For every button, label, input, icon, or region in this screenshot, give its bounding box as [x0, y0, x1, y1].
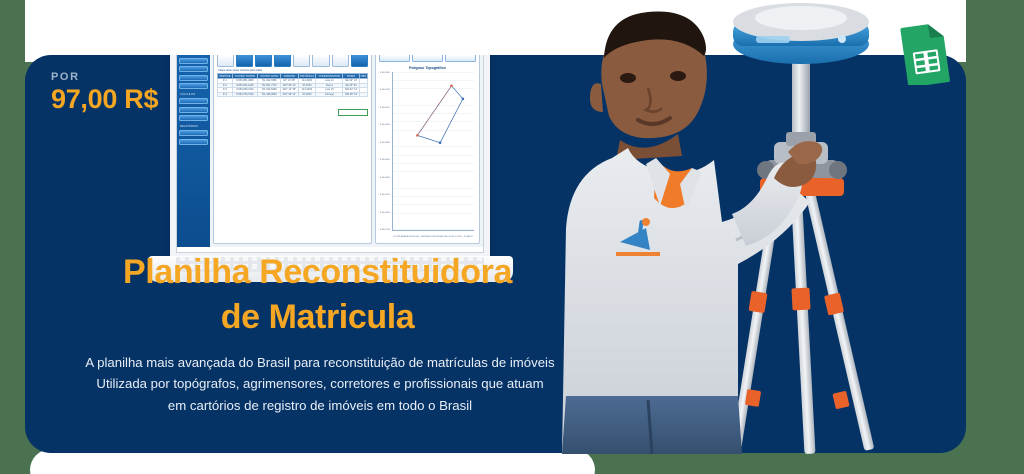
chart-title: Polígono Topográfico [379, 66, 476, 70]
sidebar-group-label-3: RELATÓRIOS [179, 124, 208, 128]
table-panel: Clique duas vezes na linha para editar V… [213, 55, 372, 244]
table-hint: Clique duas vezes na linha para editar [218, 69, 368, 72]
sidebar-item-distancia[interactable] [179, 107, 208, 113]
page-title: Planilha Reconstituidora de Matricula [25, 250, 610, 340]
app-main: Clique duas vezes na linha para editar V… [210, 55, 483, 247]
title-line-2: de Matricula [25, 295, 610, 340]
toolbar-field-area[interactable] [293, 55, 310, 67]
chart-button-imprimir[interactable] [445, 55, 476, 62]
banner-frame: POR 97,00 R$ SISTCO - SISTEMA DE CÁLCULO… [0, 0, 1024, 474]
chart-y-axis: 8.654.960 8.654.940 8.654.920 8.654.900 … [379, 72, 391, 231]
sidebar-item-exportar[interactable] [179, 130, 208, 136]
laptop-screen: SISTCO - SISTEMA DE CÁLCULO DE CONVERSÃO… [176, 55, 484, 253]
price-label: POR [51, 71, 158, 83]
chart-toolbar [379, 55, 476, 62]
toolbar-button-limpar[interactable] [255, 55, 272, 67]
chart-button-exportar-excel[interactable] [412, 55, 443, 62]
sidebar-item-inicio[interactable] [179, 58, 208, 64]
y-tick: 8.654.900 [380, 124, 390, 126]
y-tick: 8.654.880 [380, 142, 390, 144]
google-sheets-icon [897, 23, 953, 85]
toolbar-field-azimute[interactable] [332, 55, 349, 67]
subtitle-line-1: A planilha mais avançada do Brasil para … [35, 352, 605, 373]
surveyor-photo [560, 0, 930, 454]
cell: 97,3200 [298, 92, 316, 97]
toolbar-button-novo-registro[interactable] [351, 55, 368, 67]
cell: 8.654.793,3740 [232, 92, 258, 97]
sidebar-item-coordenadas[interactable] [179, 75, 208, 81]
chart-panel: Polígono Topográfico 8.654.960 8.654.940… [375, 55, 480, 244]
y-tick: 8.654.780 [380, 229, 390, 231]
cell: 711.445,0960 [258, 92, 281, 97]
table-body: P-1 8.654.881,4820 711.402,3380 62° 14' … [218, 79, 368, 97]
title-line-1: Planilha Reconstituidora [123, 253, 512, 291]
y-tick: 8.654.940 [380, 89, 390, 91]
sidebar-item-azimute[interactable] [179, 98, 208, 104]
cell [359, 92, 367, 97]
app-sidebar: MENU CÁLCULOS RELATÓRIOS [177, 55, 210, 247]
chart-x-axis: COORDENADAS ESTE (E) - SISTEMA UTM SIRGA… [392, 236, 474, 239]
selected-cell[interactable] [338, 109, 368, 116]
chart-button-gerar-poligono[interactable] [379, 55, 410, 62]
sidebar-item-configuracoes[interactable] [179, 139, 208, 145]
subtitle-line-2: Utilizada por topógrafos, agrimensores, … [35, 373, 605, 394]
app-body: MENU CÁLCULOS RELATÓRIOS [177, 55, 483, 247]
toolbar-field-perimetro[interactable] [312, 55, 329, 67]
y-tick: 8.654.800 [380, 212, 390, 214]
x-axis-label: COORDENADAS ESTE (E) - SISTEMA UTM SIRGA… [393, 236, 448, 238]
person-head [590, 12, 707, 160]
cell: Córrego [316, 92, 343, 97]
sidebar-group-label-2: CÁLCULOS [179, 92, 208, 96]
toolbar-field-vertice[interactable] [217, 55, 234, 67]
toolbar-button-memorial[interactable] [274, 55, 291, 67]
chart-plot [392, 72, 474, 231]
cell: 334° 08' 11" [281, 92, 299, 97]
table-row[interactable]: P-4 8.654.793,3740 711.445,0960 334° 08'… [218, 92, 368, 97]
sidebar-item-area[interactable] [179, 115, 208, 121]
gps-receiver [733, 3, 869, 64]
y-tick: 8.654.920 [380, 107, 390, 109]
y-tick: 8.654.820 [380, 194, 390, 196]
subtitle-line-3: em cartórios de registro de imóveis em t… [35, 395, 605, 416]
y-tick: 8.654.960 [380, 72, 390, 74]
page-subtitle: A planilha mais avançada do Brasil para … [35, 352, 605, 416]
y-tick: 8.654.860 [380, 159, 390, 161]
app-toolbar [217, 55, 368, 67]
polygon-series [393, 72, 474, 153]
sidebar-item-conversao[interactable] [179, 83, 208, 89]
laptop-lid: SISTCO - SISTEMA DE CÁLCULO DE CONVERSÃO… [170, 55, 490, 261]
cell: P-4 [218, 92, 233, 97]
y-tick: 8.654.840 [380, 177, 390, 179]
person-jeans [562, 396, 742, 454]
toolbar-button-calcular[interactable] [236, 55, 253, 67]
price-value: 97,00 R$ [51, 85, 158, 113]
x-axis-sublabel: FUSO 23 SUL - ZONA 23 [449, 236, 473, 238]
sidebar-item-memorial[interactable] [179, 66, 208, 72]
price-badge: POR 97,00 R$ [37, 69, 158, 113]
cell: NW 25° 51' [343, 92, 359, 97]
chart-area: 8.654.960 8.654.940 8.654.920 8.654.900 … [379, 72, 476, 240]
coordinates-table: VÉRTICE COORD. NORTE COORD. ESTE AZIMUTE… [217, 73, 368, 97]
